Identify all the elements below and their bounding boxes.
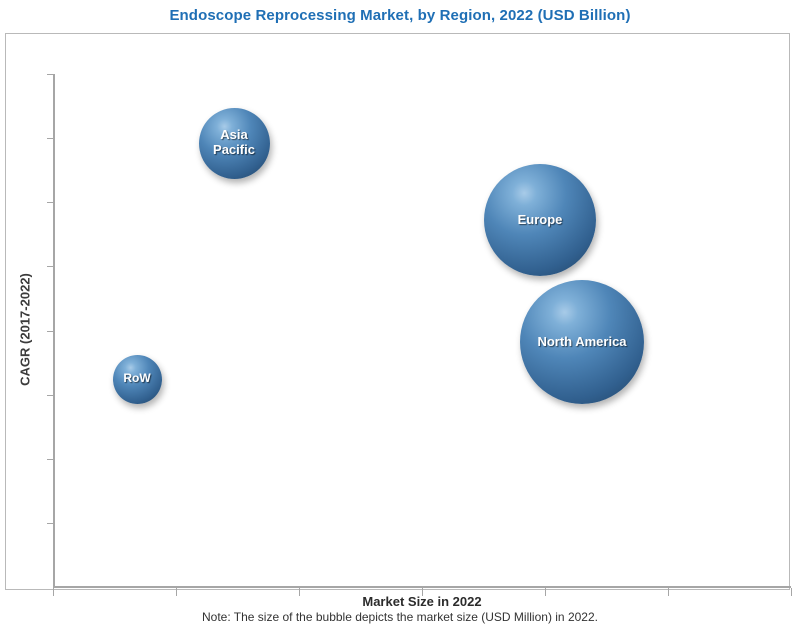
bubble-label: Europe — [515, 213, 566, 228]
y-axis-tick — [47, 202, 54, 203]
chart-note: Note: The size of the bubble depicts the… — [0, 610, 800, 624]
y-axis-title: CAGR (2017-2022) — [18, 240, 33, 420]
bubble-asia-pacific[interactable]: Asia Pacific — [199, 108, 270, 179]
bubble-label: Asia Pacific — [210, 128, 258, 157]
bubble-north-america[interactable]: North America — [520, 280, 644, 404]
bubble-row[interactable]: RoW — [113, 355, 162, 404]
x-axis-title: Market Size in 2022 — [53, 594, 791, 609]
bubble-europe[interactable]: Europe — [484, 164, 596, 276]
bubble-label: North America — [534, 335, 629, 350]
chart-title: Endoscope Reprocessing Market, by Region… — [0, 7, 800, 24]
y-axis-tick — [47, 523, 54, 524]
y-axis-tick — [47, 266, 54, 267]
chart-frame: North AmericaEuropeAsia PacificRoW CAGR … — [5, 33, 790, 590]
y-axis-tick — [47, 331, 54, 332]
y-axis-tick — [47, 395, 54, 396]
x-axis-tick — [791, 588, 792, 596]
y-axis-tick — [47, 459, 54, 460]
y-axis-tick — [47, 74, 54, 75]
bubble-label: RoW — [120, 372, 153, 385]
y-axis-tick — [47, 138, 54, 139]
